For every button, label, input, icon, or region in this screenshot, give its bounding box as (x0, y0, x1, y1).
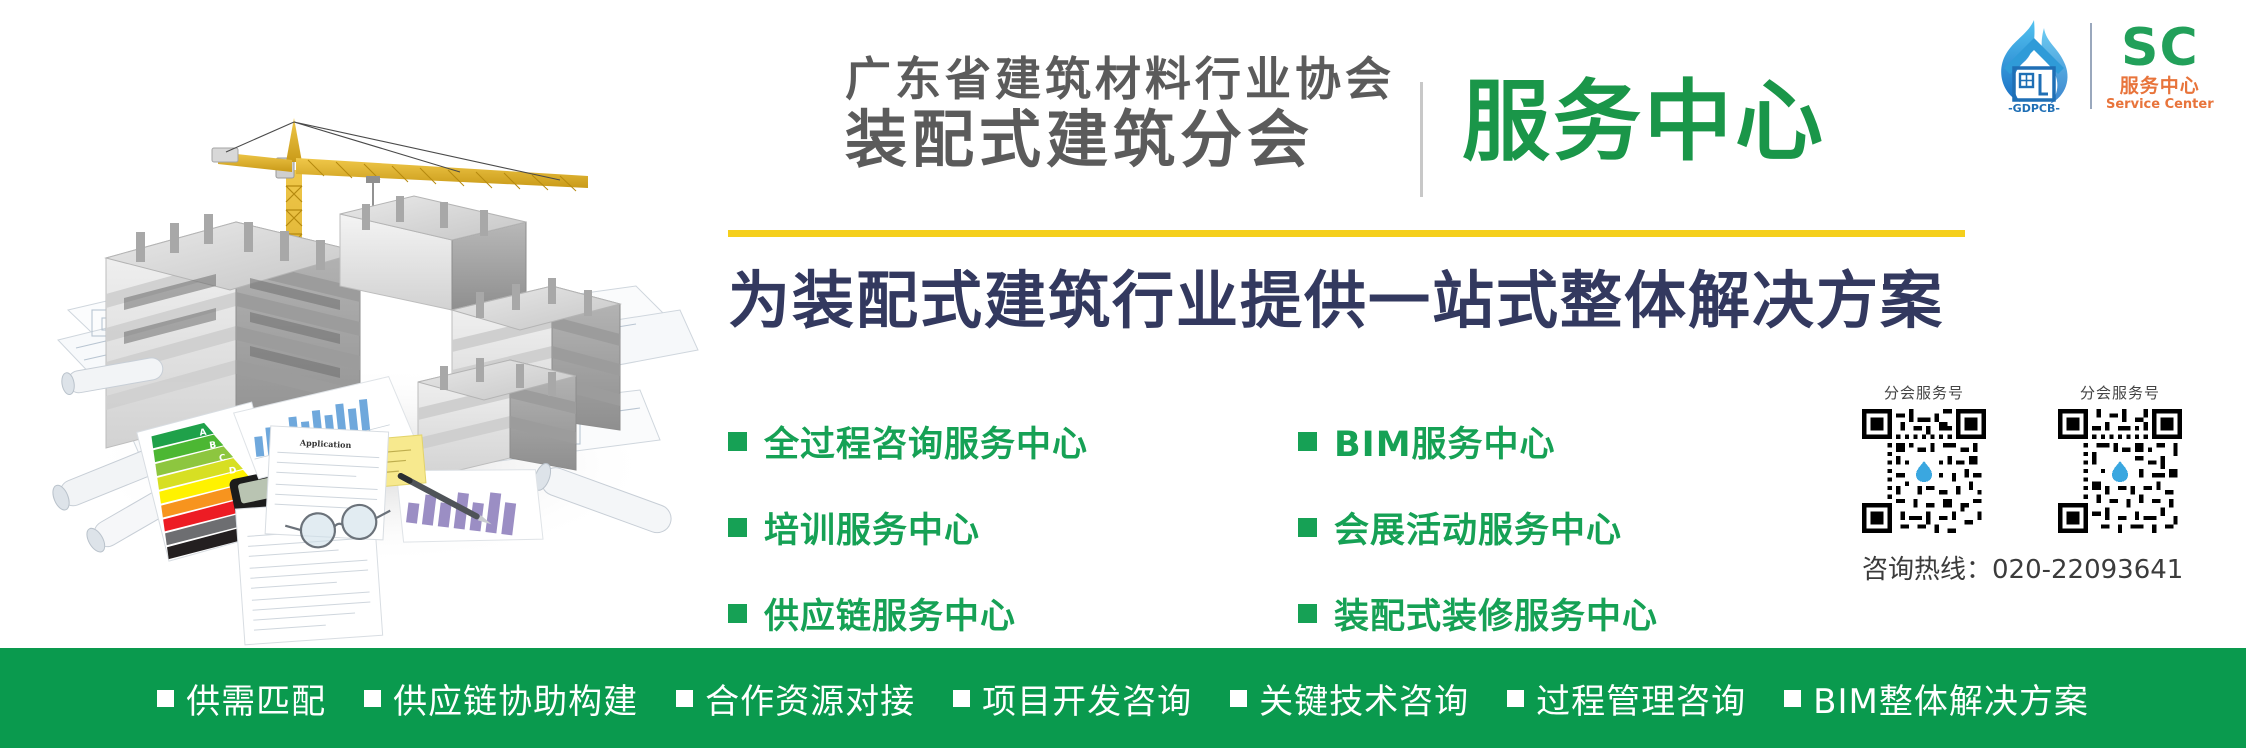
capability-label: 合作资源对接 (705, 674, 915, 723)
capability-item[interactable]: BIM整体解决方案 (1784, 674, 2089, 723)
service-item-label: 全过程咨询服务中心 (764, 416, 1088, 467)
square-bullet-icon (1298, 518, 1317, 537)
service-list-left: 全过程咨询服务中心 培训服务中心 供应链服务中心 (728, 408, 1088, 666)
service-item-label: 装配式装修服务中心 (1334, 588, 1658, 639)
square-bullet-icon (953, 690, 970, 707)
square-bullet-icon (157, 690, 174, 707)
square-bullet-icon (728, 432, 747, 451)
slogan-text: 为装配式建筑行业提供一站式整体解决方案 (728, 265, 1944, 336)
hotline-text: 咨询热线：020-22093641 (1862, 549, 2182, 586)
qr-caption: 分会服务号 (1862, 382, 1986, 403)
svg-text:D: D (228, 466, 237, 477)
promotional-banner: ABC DEF GHI (0, 0, 2246, 752)
service-list-right: BIM服务中心 会展活动服务中心 装配式装修服务中心 (1298, 408, 1658, 666)
service-center-logo-text: SC 服务中心 Service Center (2106, 22, 2214, 111)
capability-label: 项目开发咨询 (982, 674, 1192, 723)
service-item-label: 会展活动服务中心 (1334, 502, 1622, 553)
sc-abbreviation: SC (2106, 22, 2214, 74)
square-bullet-icon (364, 690, 381, 707)
square-bullet-icon (1298, 432, 1317, 451)
organization-title-block: 广东省建筑材料行业协会 装配式建筑分会 (845, 55, 1445, 174)
qr-code-wechat-2[interactable] (2058, 409, 2182, 533)
square-bullet-icon (1298, 604, 1317, 623)
capabilities-bar: 供需匹配 供应链协助构建 合作资源对接 项目开发咨询 关键技术咨询 过程管理咨询… (0, 648, 2246, 748)
square-bullet-icon (728, 518, 747, 537)
capability-label: BIM整体解决方案 (1813, 674, 2089, 723)
qr-cell: 分会服务号 (1862, 382, 1986, 533)
service-item[interactable]: 全过程咨询服务中心 (728, 408, 1088, 474)
square-bullet-icon (1230, 690, 1247, 707)
square-bullet-icon (1784, 690, 1801, 707)
qr-cell: 分会服务号 (2058, 382, 2182, 533)
svg-text:A: A (199, 428, 207, 439)
title-vertical-divider (1420, 82, 1423, 197)
capability-label: 过程管理咨询 (1536, 674, 1746, 723)
service-item-label: BIM服务中心 (1334, 416, 1556, 467)
capability-label: 供应链协助构建 (393, 674, 638, 723)
service-item-label: 培训服务中心 (764, 502, 980, 553)
qr-caption: 分会服务号 (2058, 382, 2182, 403)
capability-item[interactable]: 关键技术咨询 (1230, 674, 1469, 723)
branch-name: 装配式建筑分会 (845, 107, 1445, 174)
capability-item[interactable]: 项目开发咨询 (953, 674, 1192, 723)
service-item[interactable]: 装配式装修服务中心 (1298, 580, 1658, 646)
qr-contact-block: 分会服务号 (1862, 382, 2182, 586)
service-item[interactable]: 供应链服务中心 (728, 580, 1088, 646)
gdpcb-emblem-icon: -GDPCB- (1988, 16, 2080, 116)
service-item-label: 供应链服务中心 (764, 588, 1016, 639)
sc-english-label: Service Center (2106, 98, 2214, 111)
square-bullet-icon (676, 690, 693, 707)
gold-divider-rule (728, 230, 1965, 237)
capability-item[interactable]: 合作资源对接 (676, 674, 915, 723)
qr-code-wechat-1[interactable] (1862, 409, 1986, 533)
logo-divider (2090, 23, 2092, 109)
qr-row: 分会服务号 (1862, 382, 2182, 533)
construction-site-hero-image: ABC DEF GHI (40, 10, 700, 650)
sc-chinese-label: 服务中心 (2106, 77, 2214, 96)
capability-label: 关键技术咨询 (1259, 674, 1469, 723)
service-item[interactable]: 会展活动服务中心 (1298, 494, 1658, 560)
svg-text:-GDPCB-: -GDPCB- (2008, 102, 2060, 115)
capability-item[interactable]: 供应链协助构建 (364, 674, 638, 723)
capability-label: 供需匹配 (186, 674, 326, 723)
service-item[interactable]: 培训服务中心 (728, 494, 1088, 560)
square-bullet-icon (728, 604, 747, 623)
organization-name: 广东省建筑材料行业协会 (845, 55, 1445, 103)
square-bullet-icon (1507, 690, 1524, 707)
capability-item[interactable]: 供需匹配 (157, 674, 326, 723)
service-center-heading: 服务中心 (1462, 78, 1826, 166)
service-item[interactable]: BIM服务中心 (1298, 408, 1658, 474)
capability-item[interactable]: 过程管理咨询 (1507, 674, 1746, 723)
brand-logo: -GDPCB- SC 服务中心 Service Center (1988, 14, 2236, 118)
